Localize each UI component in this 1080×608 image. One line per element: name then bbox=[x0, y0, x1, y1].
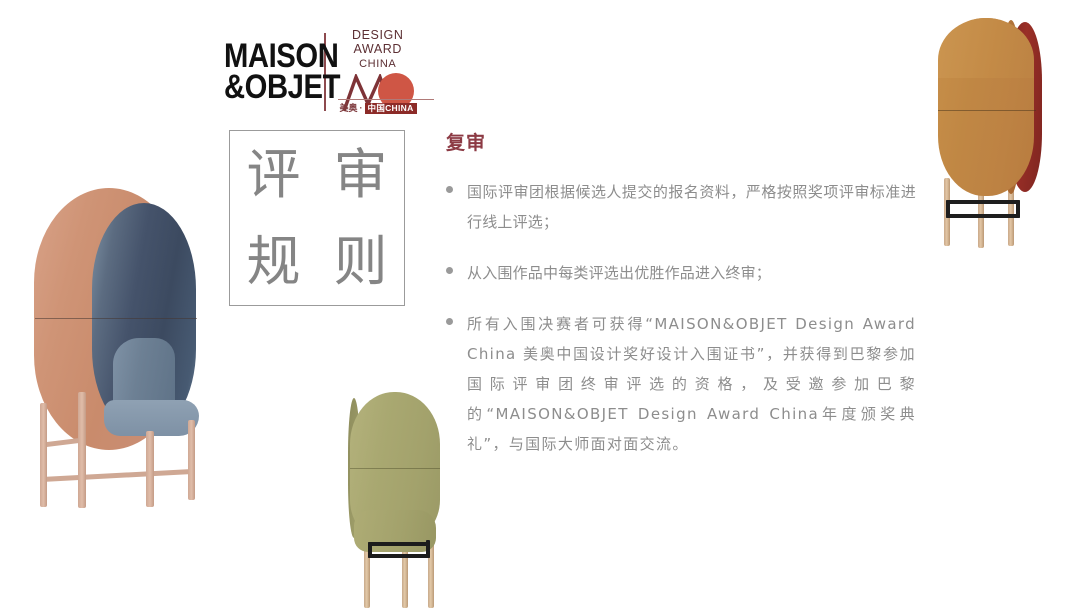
bullet-dot-icon bbox=[446, 267, 453, 274]
pod-leg bbox=[146, 431, 154, 507]
pod-seam-line bbox=[35, 318, 197, 319]
pod-metal-frame bbox=[368, 554, 430, 558]
content-heading: 复审 bbox=[446, 132, 916, 155]
bullet-item: 国际评审团根据候选人提交的报名资料，严格按照奖项评审标准进行线上评选； bbox=[446, 177, 916, 237]
pod-leg-rail bbox=[42, 469, 192, 482]
badge-cn-label: 美奥 bbox=[340, 104, 358, 113]
title-char-4: 则 bbox=[334, 235, 388, 289]
pod-metal-frame bbox=[368, 542, 430, 546]
maison-objet-logo: MAISON &OBJET DESIGN AWARD CHINA 美奥 · 中国… bbox=[224, 28, 420, 116]
pod-base bbox=[354, 510, 436, 552]
product-image-top-right-pod-chair bbox=[930, 18, 1070, 248]
pod-metal-frame bbox=[426, 540, 430, 558]
pod-leg bbox=[78, 392, 86, 508]
product-image-bottom-center-pod-chair bbox=[340, 392, 470, 608]
pod-seam-line bbox=[938, 110, 1036, 111]
bullet-item: 从入围作品中每类评选出优胜作品进入终审； bbox=[446, 258, 916, 288]
pod-leg bbox=[188, 420, 195, 500]
pod-metal-frame bbox=[946, 214, 1020, 218]
pod-seam-line bbox=[350, 468, 440, 469]
wordmark-line-objet: &OBJET bbox=[224, 72, 307, 103]
maison-objet-wordmark: MAISON &OBJET bbox=[224, 41, 307, 104]
bullet-text: 所有入围决赛者可获得“MAISON&OBJET Design Award Chi… bbox=[467, 309, 916, 459]
product-image-left-pod-chair bbox=[18, 188, 208, 508]
pod-metal-frame bbox=[946, 200, 950, 218]
title-char-2: 审 bbox=[334, 148, 388, 202]
design-award-china-lockup: DESIGN AWARD CHINA 美奥 · 中国CHINA bbox=[336, 29, 421, 115]
title-char-3: 规 bbox=[247, 235, 301, 289]
pod-metal-frame bbox=[946, 200, 1020, 204]
bullet-text: 从入围作品中每类评选出优胜作品进入终审； bbox=[467, 258, 916, 288]
design-award-text: DESIGN AWARD bbox=[336, 29, 421, 57]
title-char-1: 评 bbox=[247, 148, 301, 202]
content-column: 复审 国际评审团根据候选人提交的报名资料，严格按照奖项评审标准进行线上评选； 从… bbox=[446, 132, 916, 480]
badge-separator-dot: · bbox=[360, 104, 363, 113]
pod-leg bbox=[40, 403, 47, 507]
logo-underline bbox=[338, 99, 434, 100]
bullet-dot-icon bbox=[446, 318, 453, 325]
china-badge: 美奥 · 中国CHINA bbox=[340, 102, 432, 115]
bullet-item: 所有入围决赛者可获得“MAISON&OBJET Design Award Chi… bbox=[446, 309, 916, 459]
badge-china-label: 中国CHINA bbox=[365, 103, 417, 115]
bullet-dot-icon bbox=[446, 186, 453, 193]
bullet-text: 国际评审团根据候选人提交的报名资料，严格按照奖项评审标准进行线上评选； bbox=[467, 177, 916, 237]
section-title-box: 评 审 规 则 bbox=[229, 130, 405, 306]
china-text: CHINA bbox=[336, 58, 421, 70]
pod-metal-frame bbox=[1016, 200, 1020, 218]
pod-metal-frame bbox=[368, 542, 372, 558]
